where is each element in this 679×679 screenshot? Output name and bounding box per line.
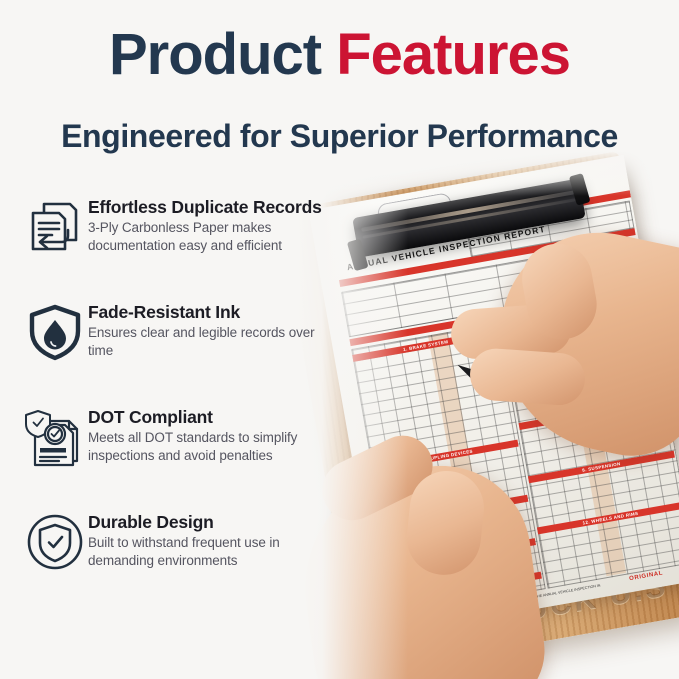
title-word-product: Product: [109, 22, 321, 87]
feature-item: Effortless Duplicate Records 3-Ply Carbo…: [22, 192, 352, 297]
feature-title: Effortless Duplicate Records: [88, 197, 338, 217]
feature-title: Durable Design: [88, 512, 338, 532]
page-subtitle: Engineered for Superior Performance: [0, 118, 679, 155]
feature-text: Durable Design Built to withstand freque…: [88, 507, 338, 570]
feature-item: DOT Compliant Meets all DOT standards to…: [22, 402, 352, 507]
feature-list: Effortless Duplicate Records 3-Ply Carbo…: [22, 192, 352, 612]
page-title: Product Features: [0, 26, 679, 84]
feature-description: Ensures clear and legible records over t…: [88, 324, 338, 360]
feature-text: DOT Compliant Meets all DOT standards to…: [88, 402, 338, 465]
feature-title: Fade-Resistant Ink: [88, 302, 338, 322]
circle-shield-check-icon: [22, 509, 88, 575]
finger: [468, 347, 586, 407]
product-photo: BUCK U.S ANNUAL VEHICLE INSPECTION REPOR…: [296, 150, 679, 679]
feature-text: Fade-Resistant Ink Ensures clear and leg…: [88, 297, 338, 360]
feature-description: Meets all DOT standards to simplify insp…: [88, 429, 338, 465]
document-shield-check-icon: [22, 404, 88, 470]
feature-description: Built to withstand frequent use in deman…: [88, 534, 338, 570]
duplicate-documents-icon: [22, 194, 88, 260]
title-word-features: Features: [336, 22, 570, 87]
feature-description: 3-Ply Carbonless Paper makes documentati…: [88, 219, 338, 255]
feature-title: DOT Compliant: [88, 407, 338, 427]
shield-ink-drop-icon: [22, 299, 88, 365]
feature-text: Effortless Duplicate Records 3-Ply Carbo…: [88, 192, 338, 255]
feature-item: Durable Design Built to withstand freque…: [22, 507, 352, 612]
feature-item: Fade-Resistant Ink Ensures clear and leg…: [22, 297, 352, 402]
product-features-graphic: BUCK U.S ANNUAL VEHICLE INSPECTION REPOR…: [0, 0, 679, 679]
